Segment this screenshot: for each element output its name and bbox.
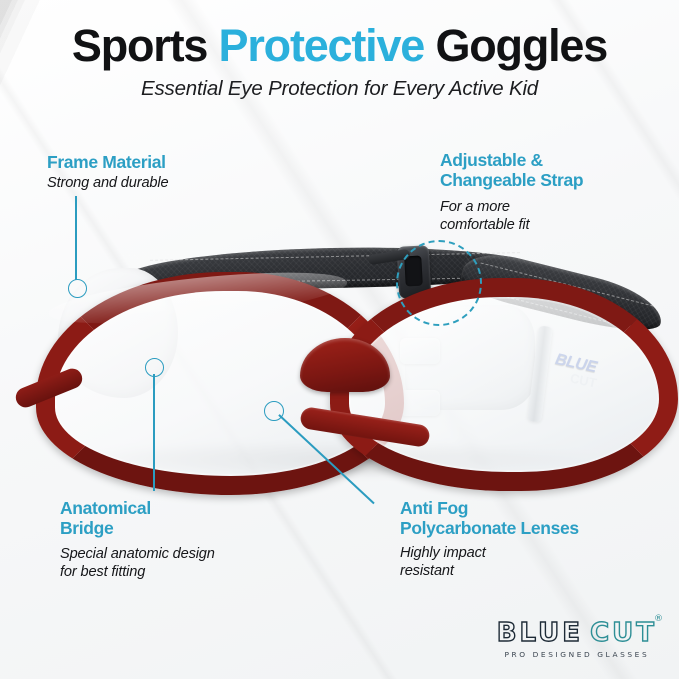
leader-frame-material <box>75 196 77 280</box>
marker-adjustable-strap[interactable] <box>396 240 482 326</box>
marker-frame-material[interactable] <box>68 279 87 298</box>
callout-heading: Anatomical Bridge <box>60 498 215 539</box>
callout-description: Special anatomic design for best fitting <box>60 545 215 581</box>
callout-description: Highly impact resistant <box>400 544 579 580</box>
title-accent-word: Protective <box>219 20 425 71</box>
callout-description: For a more comfortable fit <box>440 198 583 234</box>
callout-heading: Frame Material <box>47 152 168 172</box>
callout-anatomical-bridge: Anatomical Bridge Special anatomic desig… <box>60 498 215 581</box>
leader-anatomical-bridge <box>153 374 155 491</box>
infographic-page: Sports Protective Goggles Essential Eye … <box>0 0 679 679</box>
title-part-1: Sports <box>72 20 219 71</box>
header: Sports Protective Goggles Essential Eye … <box>0 22 679 101</box>
logo-wordmark: BLUECUT ® <box>497 620 657 646</box>
title-part-2: Goggles <box>424 20 607 71</box>
page-subtitle: Essential Eye Protection for Every Activ… <box>0 77 679 101</box>
page-title: Sports Protective Goggles <box>0 22 679 70</box>
registered-trademark-icon: ® <box>654 615 666 624</box>
callout-description: Strong and durable <box>47 174 168 192</box>
product-photo: BLUE CUT <box>0 230 679 530</box>
logo-tagline: PRO DESIGNED GLASSES <box>497 650 657 659</box>
callout-adjustable-strap: Adjustable & Changeable Strap For a more… <box>440 150 583 234</box>
callout-heading: Anti Fog Polycarbonate Lenses <box>400 498 579 539</box>
logo-word-blue: BLUE <box>497 618 583 648</box>
callout-anti-fog-lenses: Anti Fog Polycarbonate Lenses Highly imp… <box>400 498 579 580</box>
brand-logo: BLUECUT ® PRO DESIGNED GLASSES <box>497 620 657 659</box>
logo-word-cut: CUT <box>590 618 657 648</box>
callout-frame-material: Frame Material Strong and durable <box>47 152 168 193</box>
callout-heading: Adjustable & Changeable Strap <box>440 150 583 191</box>
